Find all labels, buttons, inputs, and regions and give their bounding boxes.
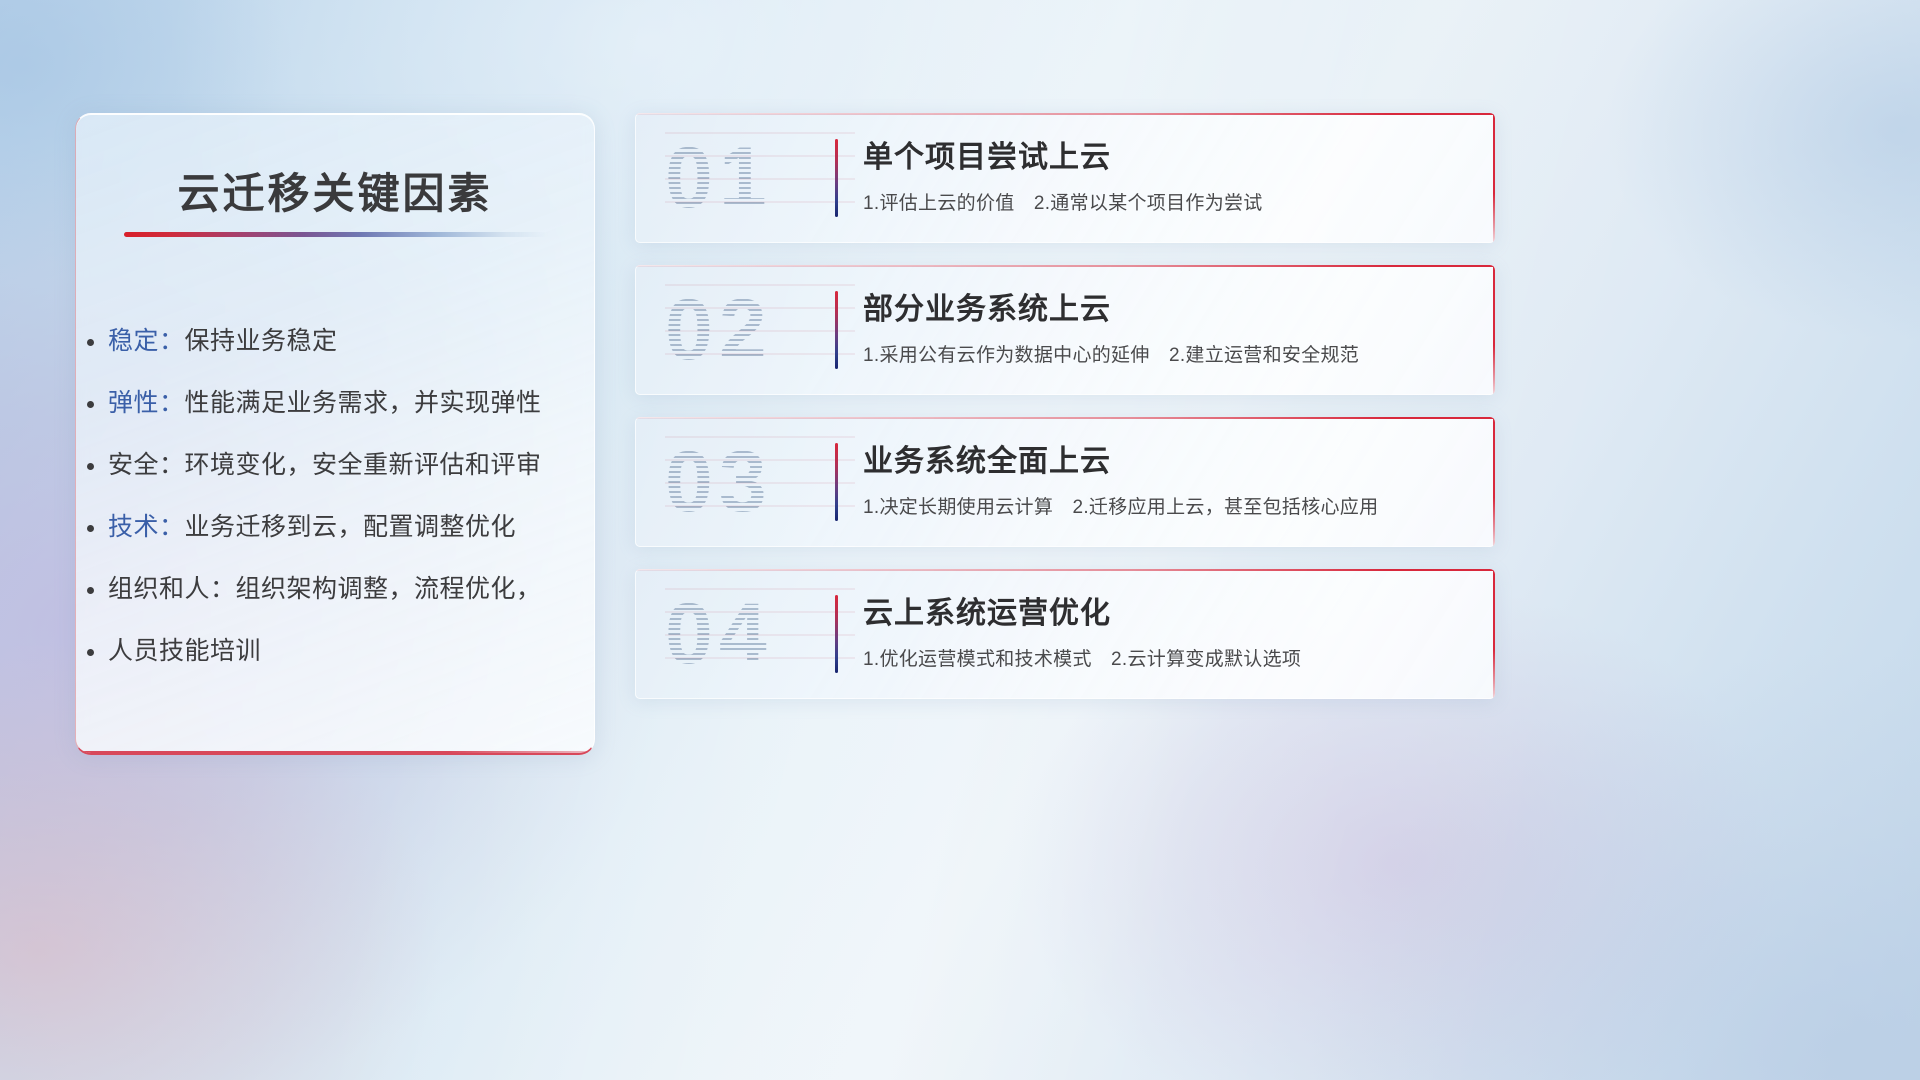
factor-label: 安全： [108, 451, 185, 479]
factor-row: 技术：业务迁移到云，配置调整优化 [108, 496, 574, 558]
stage-number-streak-overlay [665, 436, 855, 528]
stage-divider-bar [835, 291, 838, 369]
factor-label: 弹性： [108, 389, 185, 417]
factor-row: 安全：环境变化，安全重新评估和评审 [108, 434, 574, 496]
stage-body: 云上系统运营优化1.优化运营模式和技术模式 2.云计算变成默认选项 [863, 593, 1471, 673]
stage-number-streak-overlay [665, 284, 855, 376]
factor-row: 弹性：性能满足业务需求，并实现弹性 [108, 372, 574, 434]
stage-number: 02 [665, 284, 855, 376]
stage-title: 单个项目尝试上云 [863, 137, 1471, 179]
stage-number-streak-overlay [665, 588, 855, 680]
stage-card[interactable]: 02部分业务系统上云1.采用公有云作为数据中心的延伸 2.建立运营和安全规范 [635, 265, 1495, 395]
title-underline-gradient [124, 232, 548, 237]
stage-description: 1.优化运营模式和技术模式 2.云计算变成默认选项 [863, 647, 1471, 673]
stage-title: 云上系统运营优化 [863, 593, 1471, 635]
factor-row: 人员技能培训 [108, 620, 574, 682]
stage-title: 业务系统全面上云 [863, 441, 1471, 483]
stage-title: 部分业务系统上云 [863, 289, 1471, 331]
factor-row: 稳定：保持业务稳定 [108, 310, 574, 372]
factor-text: 组织架构调整，流程优化， [236, 575, 542, 603]
factor-text: 人员技能培训 [108, 637, 261, 665]
stage-body: 单个项目尝试上云1.评估上云的价值 2.通常以某个项目作为尝试 [863, 137, 1471, 217]
stage-divider-bar [835, 595, 838, 673]
factor-text: 性能满足业务需求，并实现弹性 [185, 389, 542, 417]
page-title: 云迁移关键因素 [76, 160, 594, 221]
factor-label: 技术： [108, 513, 185, 541]
stage-divider-bar [835, 139, 838, 217]
key-factors-panel: 云迁移关键因素 稳定：保持业务稳定弹性：性能满足业务需求，并实现弹性安全：环境变… [75, 113, 595, 755]
stage-description: 1.决定长期使用云计算 2.迁移应用上云，甚至包括核心应用 [863, 495, 1471, 521]
stage-number: 04 [665, 588, 855, 680]
stage-card[interactable]: 01单个项目尝试上云1.评估上云的价值 2.通常以某个项目作为尝试 [635, 113, 1495, 243]
stage-number-streak-overlay [665, 132, 855, 224]
migration-stage-list: 01单个项目尝试上云1.评估上云的价值 2.通常以某个项目作为尝试02部分业务系… [635, 113, 1495, 699]
factor-label: 稳定： [108, 327, 185, 355]
stage-number: 01 [665, 132, 855, 224]
slide-canvas: 云迁移关键因素 稳定：保持业务稳定弹性：性能满足业务需求，并实现弹性安全：环境变… [0, 0, 1920, 1080]
stage-divider-bar [835, 443, 838, 521]
factor-text: 环境变化，安全重新评估和评审 [185, 451, 542, 479]
factor-text: 业务迁移到云，配置调整优化 [185, 513, 517, 541]
stage-description: 1.评估上云的价值 2.通常以某个项目作为尝试 [863, 191, 1471, 217]
key-factors-list: 稳定：保持业务稳定弹性：性能满足业务需求，并实现弹性安全：环境变化，安全重新评估… [108, 310, 574, 682]
stage-description: 1.采用公有云作为数据中心的延伸 2.建立运营和安全规范 [863, 343, 1471, 369]
stage-card[interactable]: 03业务系统全面上云1.决定长期使用云计算 2.迁移应用上云，甚至包括核心应用 [635, 417, 1495, 547]
factor-row: 组织和人：组织架构调整，流程优化， [108, 558, 574, 620]
stage-body: 业务系统全面上云1.决定长期使用云计算 2.迁移应用上云，甚至包括核心应用 [863, 441, 1471, 521]
factor-text: 保持业务稳定 [185, 327, 338, 355]
stage-body: 部分业务系统上云1.采用公有云作为数据中心的延伸 2.建立运营和安全规范 [863, 289, 1471, 369]
stage-number: 03 [665, 436, 855, 528]
factor-label: 组织和人： [108, 575, 236, 603]
stage-card[interactable]: 04云上系统运营优化1.优化运营模式和技术模式 2.云计算变成默认选项 [635, 569, 1495, 699]
